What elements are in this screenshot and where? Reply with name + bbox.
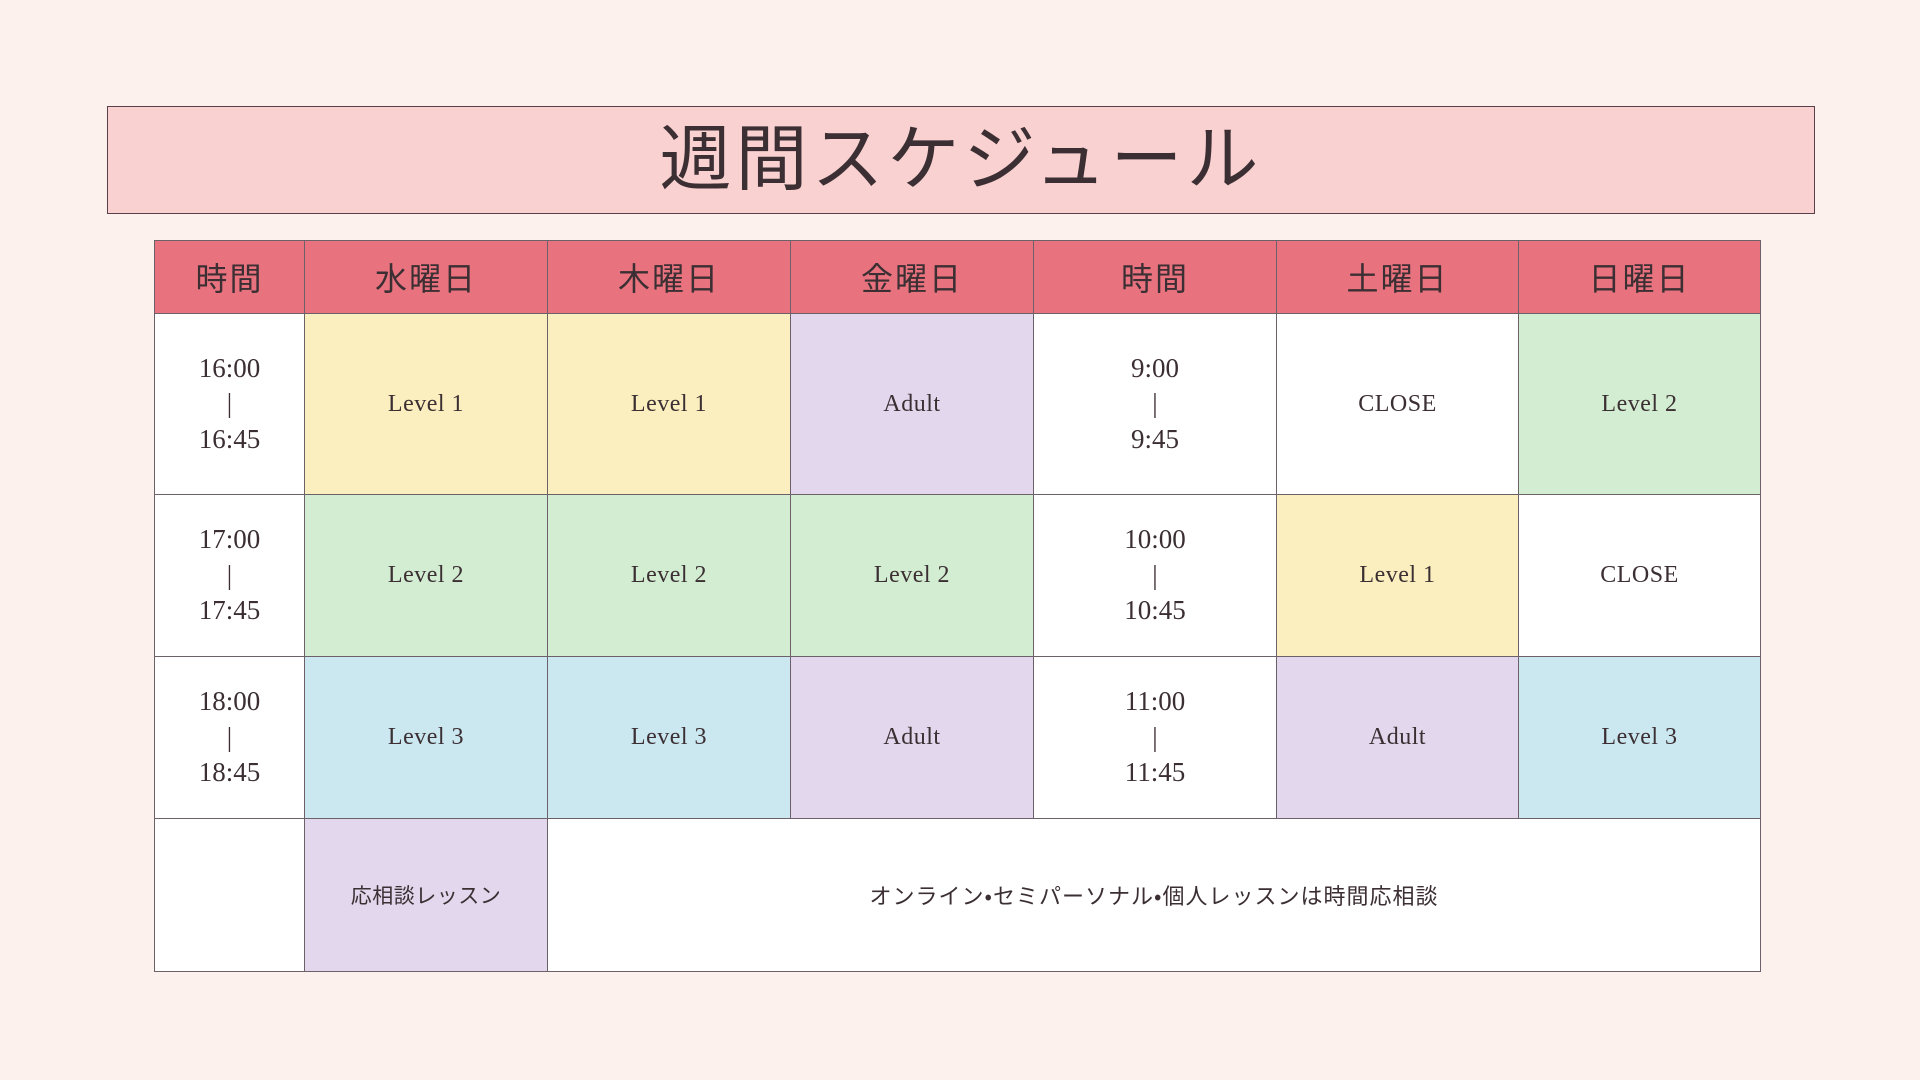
schedule-table-container: 時間 水曜日 木曜日 金曜日 時間 土曜日 日曜日 16:00 | 16:45 …: [154, 240, 1760, 972]
slot-sunday[interactable]: Level 2: [1519, 314, 1761, 495]
column-header-wednesday: 水曜日: [305, 241, 548, 314]
note-empty-cell: [155, 819, 305, 972]
slot-thursday[interactable]: Level 3: [548, 657, 791, 819]
slot-friday[interactable]: Adult: [791, 314, 1034, 495]
note-text: オンライン・セミパーソナル・個人レッスンは時間応相談: [548, 819, 1761, 972]
weekly-schedule-table: 時間 水曜日 木曜日 金曜日 時間 土曜日 日曜日 16:00 | 16:45 …: [154, 240, 1761, 972]
slot-sunday[interactable]: CLOSE: [1519, 495, 1761, 657]
table-row: 18:00 | 18:45 Level 3 Level 3 Adult 11:0…: [155, 657, 1761, 819]
table-row: 16:00 | 16:45 Level 1 Level 1 Adult 9:00…: [155, 314, 1761, 495]
slot-wednesday[interactable]: Level 2: [305, 495, 548, 657]
slot-saturday[interactable]: CLOSE: [1277, 314, 1519, 495]
time-slot-left: 16:00 | 16:45: [155, 314, 305, 495]
slot-saturday[interactable]: Adult: [1277, 657, 1519, 819]
slot-thursday[interactable]: Level 1: [548, 314, 791, 495]
slot-friday[interactable]: Level 2: [791, 495, 1034, 657]
column-header-thursday: 木曜日: [548, 241, 791, 314]
column-header-friday: 金曜日: [791, 241, 1034, 314]
slot-friday[interactable]: Adult: [791, 657, 1034, 819]
time-slot-left: 18:00 | 18:45: [155, 657, 305, 819]
time-slot-left: 17:00 | 17:45: [155, 495, 305, 657]
slot-thursday[interactable]: Level 2: [548, 495, 791, 657]
table-header-row: 時間 水曜日 木曜日 金曜日 時間 土曜日 日曜日: [155, 241, 1761, 314]
column-header-time-right: 時間: [1034, 241, 1277, 314]
column-header-saturday: 土曜日: [1277, 241, 1519, 314]
slot-saturday[interactable]: Level 1: [1277, 495, 1519, 657]
column-header-time-left: 時間: [155, 241, 305, 314]
slot-wednesday[interactable]: Level 3: [305, 657, 548, 819]
column-header-sunday: 日曜日: [1519, 241, 1761, 314]
slot-wednesday[interactable]: Level 1: [305, 314, 548, 495]
time-slot-right: 9:00 | 9:45: [1034, 314, 1277, 495]
title-banner: 週間スケジュール: [107, 106, 1815, 214]
slot-sunday[interactable]: Level 3: [1519, 657, 1761, 819]
time-slot-right: 11:00 | 11:45: [1034, 657, 1277, 819]
table-row-note: 応相談レッスン オンライン・セミパーソナル・個人レッスンは時間応相談: [155, 819, 1761, 972]
note-consult-lesson-label[interactable]: 応相談レッスン: [305, 819, 548, 972]
time-slot-right: 10:00 | 10:45: [1034, 495, 1277, 657]
page-title: 週間スケジュール: [660, 124, 1263, 196]
schedule-page: 週間スケジュール 時間 水曜日 木曜日 金曜日 時間 土曜日: [0, 0, 1920, 1080]
table-row: 17:00 | 17:45 Level 2 Level 2 Level 2 10…: [155, 495, 1761, 657]
